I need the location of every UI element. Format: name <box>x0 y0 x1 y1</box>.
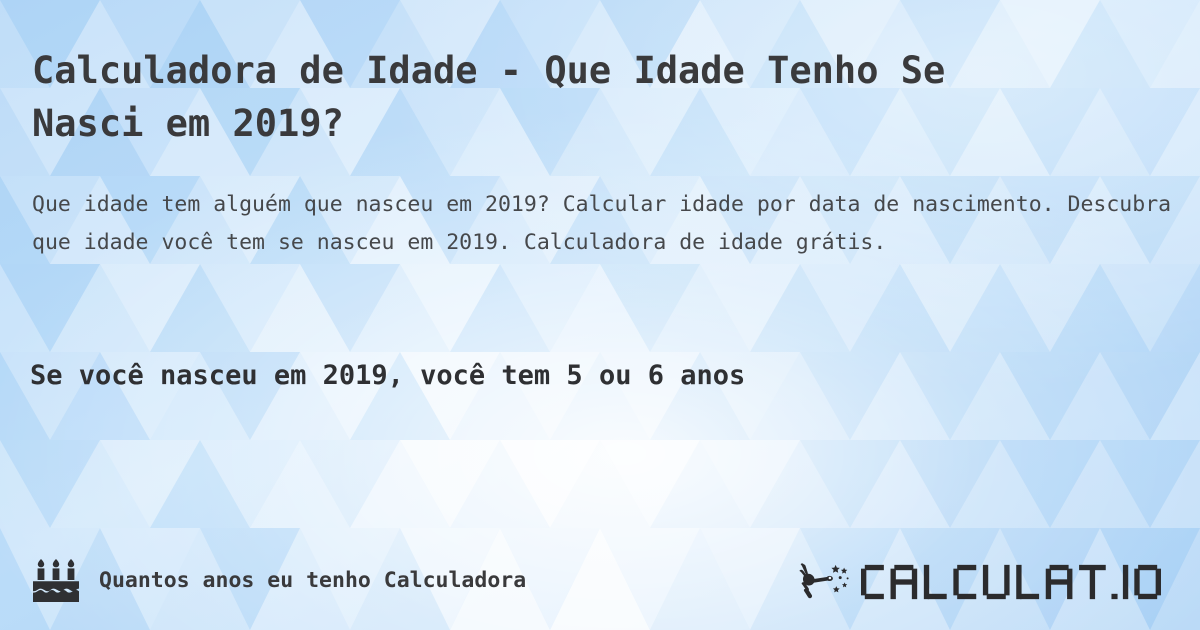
magic-wand-hand-icon <box>799 559 855 601</box>
footer: Quantos anos eu tenho Calculadora <box>0 530 1200 630</box>
birthday-cake-icon <box>30 557 82 603</box>
brand-wordmark <box>861 558 1164 602</box>
page-description: Que idade tem alguém que nasceu em 2019?… <box>32 186 1177 262</box>
brand-wordmark-svg <box>861 562 1164 602</box>
og-card: Calculadora de Idade - Que Idade Tenho S… <box>0 0 1200 630</box>
footer-branding-left: Quantos anos eu tenho Calculadora <box>30 557 526 603</box>
page-title: Calculadora de Idade - Que Idade Tenho S… <box>32 44 1042 150</box>
age-answer-statement: Se você nasceu em 2019, você tem 5 ou 6 … <box>30 356 1170 396</box>
footer-site-label: Quantos anos eu tenho Calculadora <box>99 568 526 593</box>
brand-logo[interactable]: CALCULAT.IO <box>799 558 1172 602</box>
